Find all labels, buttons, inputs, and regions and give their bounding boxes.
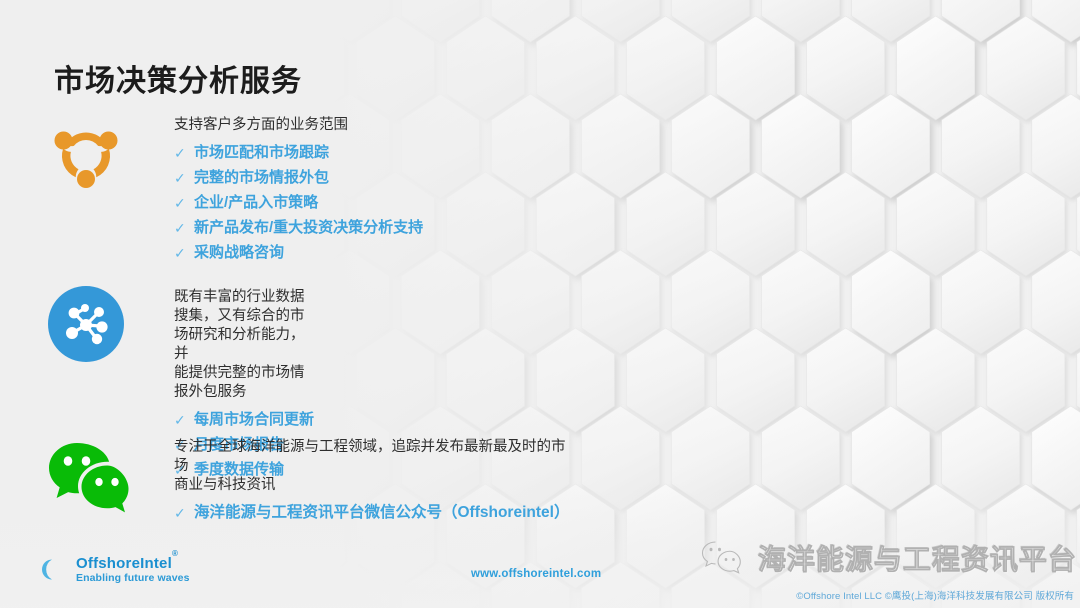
block-lead-text: 既有丰富的行业数据搜集，又有综合的市场研究和分析能力，并 能提供完整的市场情报外… (174, 288, 314, 402)
check-icon: ✓ (174, 409, 194, 431)
check-icon: ✓ (174, 217, 194, 239)
wechat-public-account-banner: 海洋能源与工程资讯平台 (700, 538, 1077, 578)
logo-tagline: Enabling future waves (76, 572, 190, 585)
bullet-label: 新产品发布/重大投资决策分析支持 (194, 217, 423, 239)
website-url[interactable]: www.offshoreintel.com (471, 568, 601, 580)
check-icon: ✓ (174, 502, 194, 524)
bullet-item: ✓ 海洋能源与工程资讯平台微信公众号（Offshoreintel） (174, 502, 569, 524)
block-lead-text: 专注于全球海洋能源与工程领域，追踪并发布最新最及时的市场 商业与科技资讯 (174, 438, 569, 495)
bullet-item: ✓ 企业/产品入市策略 (174, 192, 423, 214)
bullet-label: 采购战略咨询 (194, 242, 284, 264)
bullet-item: ✓ 采购战略咨询 (174, 242, 423, 264)
offshoreintel-logo: OffshoreIntel® Enabling future waves (38, 552, 190, 585)
bullet-label: 市场匹配和市场跟踪 (194, 142, 329, 164)
copyright-text: ©Offshore Intel LLC ©鹰投(上海)海洋科技发展有限公司 版权… (796, 588, 1074, 602)
trademark-symbol: ® (172, 549, 178, 558)
bullet-item: ✓ 完整的市场情报外包 (174, 167, 423, 189)
bullet-item: ✓ 新产品发布/重大投资决策分析支持 (174, 217, 423, 239)
check-icon: ✓ (174, 167, 194, 189)
molecule-network-icon (48, 286, 124, 362)
network-group-icon (48, 116, 124, 192)
bullet-list: ✓ 海洋能源与工程资讯平台微信公众号（Offshoreintel） (174, 502, 569, 524)
check-icon: ✓ (174, 142, 194, 164)
bullet-item: ✓ 每周市场合同更新 (174, 409, 314, 431)
page-title: 市场决策分析服务 (54, 56, 302, 100)
bullet-list: ✓ 市场匹配和市场跟踪 ✓ 完整的市场情报外包 ✓ 企业/产品入市策略 ✓ 新产… (174, 142, 423, 264)
logo-name: OffshoreIntel® (76, 552, 190, 572)
logo-wordmark: OffshoreIntel® Enabling future waves (76, 552, 190, 585)
service-block-body: 专注于全球海洋能源与工程领域，追踪并发布最新最及时的市场 商业与科技资讯 ✓ 海… (174, 438, 569, 527)
block-lead-text: 支持客户多方面的业务范围 (174, 116, 423, 135)
check-icon: ✓ (174, 242, 194, 264)
wave-crescent-logo-icon (38, 553, 70, 585)
slide-canvas: 市场决策分析服务 支持客户多方面的业务范围 (0, 0, 1080, 608)
bullet-label: 完整的市场情报外包 (194, 167, 329, 189)
check-icon: ✓ (174, 192, 194, 214)
bullet-label: 每周市场合同更新 (194, 409, 314, 431)
wechat-icon (44, 436, 132, 524)
logo-name-text: OffshoreIntel (76, 555, 172, 572)
wechat-icon (700, 539, 746, 577)
service-block-body: 支持客户多方面的业务范围 ✓ 市场匹配和市场跟踪 ✓ 完整的市场情报外包 ✓ 企… (174, 116, 423, 267)
bullet-label: 企业/产品入市策略 (194, 192, 318, 214)
bullet-label: 海洋能源与工程资讯平台微信公众号（Offshoreintel） (194, 502, 569, 524)
bullet-item: ✓ 市场匹配和市场跟踪 (174, 142, 423, 164)
wechat-banner-label: 海洋能源与工程资讯平台 (758, 538, 1077, 578)
